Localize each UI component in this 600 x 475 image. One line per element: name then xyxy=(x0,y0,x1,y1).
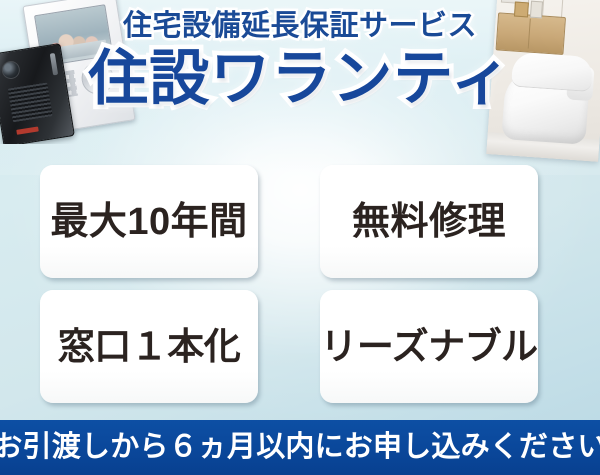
headline-block: 住宅設備延長保証サービス 住設ワランティ xyxy=(0,12,600,110)
cta-bar: お引渡しから６ヵ月以内にお申し込みください xyxy=(0,420,600,475)
feature-card: 最大10年間 xyxy=(40,165,258,278)
feature-label: 窓口１本化 xyxy=(58,328,241,365)
banner-title: 住設ワランティ xyxy=(0,47,600,110)
call-button xyxy=(16,126,39,134)
feature-grid: 最大10年間 無料修理 窓口１本化 リーズナブル xyxy=(40,165,558,403)
service-promo-banner: 住宅設備延長保証サービス 住設ワランティ 最大10年間 無料修理 窓口１本化 リ… xyxy=(0,0,600,475)
cta-text: お引渡しから６ヵ月以内にお申し込みください xyxy=(0,433,600,462)
feature-card: 窓口１本化 xyxy=(40,290,258,403)
feature-label: リーズナブル xyxy=(320,328,537,365)
feature-card: 無料修理 xyxy=(320,165,538,278)
banner-subtitle: 住宅設備延長保証サービス xyxy=(0,12,600,41)
feature-card: リーズナブル xyxy=(320,290,538,403)
feature-label: 最大10年間 xyxy=(50,203,247,241)
feature-label: 無料修理 xyxy=(352,203,506,241)
